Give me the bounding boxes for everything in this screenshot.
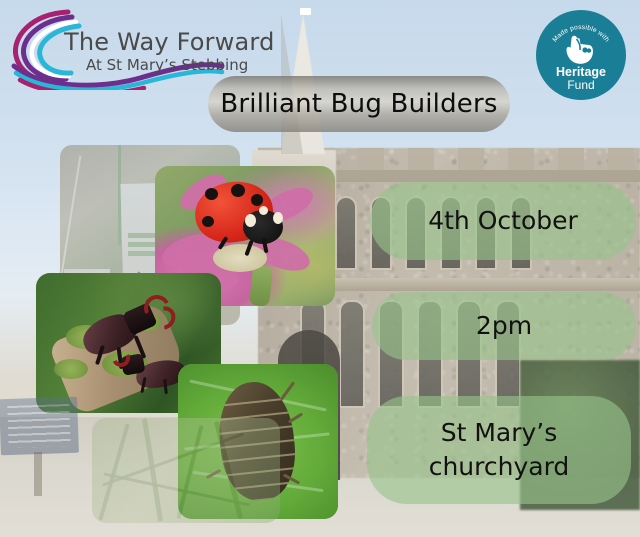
- twig-shape: [61, 156, 82, 275]
- moss-patch: [54, 359, 88, 379]
- event-date-banner: 4th October: [370, 182, 636, 260]
- heritage-arc-label: Made possible with: [552, 24, 611, 44]
- sign-post: [34, 452, 42, 496]
- ladybird-head-marking: [259, 206, 268, 215]
- event-location-line2: churchyard: [429, 452, 570, 481]
- event-time-banner: 2pm: [372, 292, 636, 360]
- event-location-line1: St Mary’s: [441, 418, 558, 447]
- flower-stalk: [249, 265, 273, 306]
- ladybird-spot: [231, 184, 245, 197]
- page-title: Brilliant Bug Builders: [220, 89, 497, 119]
- logo-title: The Way Forward: [64, 28, 275, 56]
- ladybird-spot: [205, 188, 218, 200]
- svg-text:Made possible with: Made possible with: [552, 24, 611, 44]
- grass-blade: [98, 423, 129, 520]
- ladybird-head-marking: [273, 212, 283, 224]
- poster-title-banner: Brilliant Bug Builders: [208, 76, 510, 132]
- churchyard-sign: [0, 397, 79, 456]
- ladybird-spot: [251, 194, 263, 206]
- poster-canvas: The Way Forward At St Mary’s Stebbing Ma…: [0, 0, 640, 537]
- event-location-text: St Mary’s churchyard: [429, 416, 570, 485]
- grass-blade: [176, 425, 203, 519]
- logo-subtitle: At St Mary’s Stebbing: [86, 56, 248, 74]
- event-time-text: 2pm: [476, 309, 532, 344]
- the-way-forward-logo: The Way Forward At St Mary’s Stebbing: [6, 4, 228, 90]
- event-date-text: 4th October: [428, 204, 578, 239]
- ladybird-head-marking: [245, 214, 256, 227]
- heritage-fund-logo: Made possible with Heritage Fund: [536, 10, 626, 100]
- event-location-banner: St Mary’s churchyard: [367, 396, 631, 504]
- heritage-arc-text: Made possible with: [536, 10, 626, 100]
- sign-text-lines: [7, 404, 70, 448]
- photo-grass: [92, 418, 280, 523]
- ladybird-spot: [202, 216, 214, 227]
